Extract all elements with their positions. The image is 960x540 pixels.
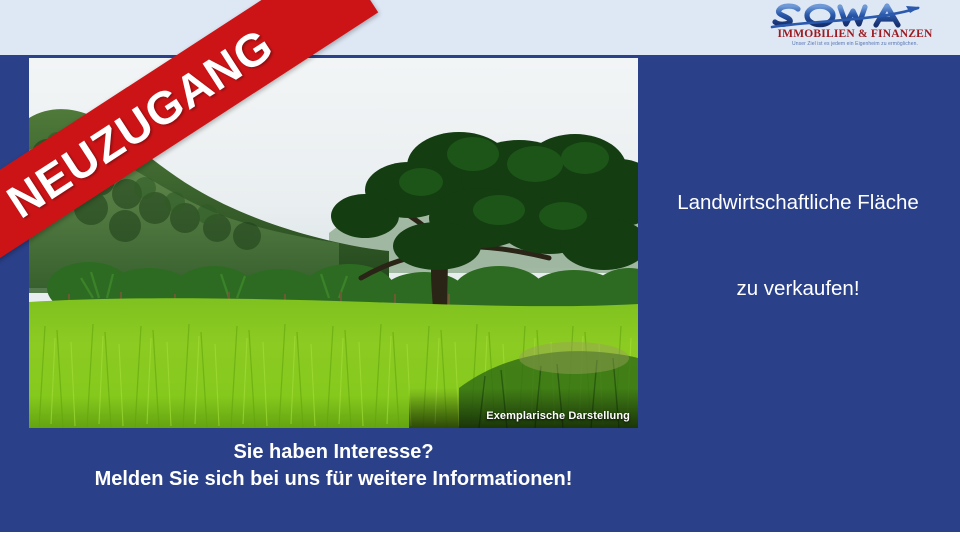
photo-caption: Exemplarische Darstellung bbox=[486, 410, 630, 422]
footer-strip bbox=[0, 532, 960, 540]
cta-line-2: Melden Sie sich bei uns für weitere Info… bbox=[29, 467, 638, 492]
offer-text-block: Landwirtschaftliche Fläche zu verkaufen! bbox=[648, 190, 948, 302]
logo-subtitle: IMMOBILIEN & FINANZEN bbox=[768, 28, 942, 40]
logo-wordmark-sowa bbox=[768, 2, 942, 29]
property-photo[interactable]: Exemplarische Darstellung bbox=[29, 58, 638, 428]
cta-line-1: Sie haben Interesse? bbox=[29, 440, 638, 465]
offer-headline: Landwirtschaftliche Fläche bbox=[648, 190, 948, 216]
logo-tagline: Unser Ziel ist es jedem ein Eigenheim zu… bbox=[768, 41, 942, 48]
company-logo[interactable]: IMMOBILIEN & FINANZEN Unser Ziel ist es … bbox=[768, 2, 942, 52]
slide-canvas: IMMOBILIEN & FINANZEN Unser Ziel ist es … bbox=[0, 0, 960, 540]
call-to-action: Sie haben Interesse? Melden Sie sich bei… bbox=[29, 440, 638, 492]
offer-subline: zu verkaufen! bbox=[648, 276, 948, 302]
